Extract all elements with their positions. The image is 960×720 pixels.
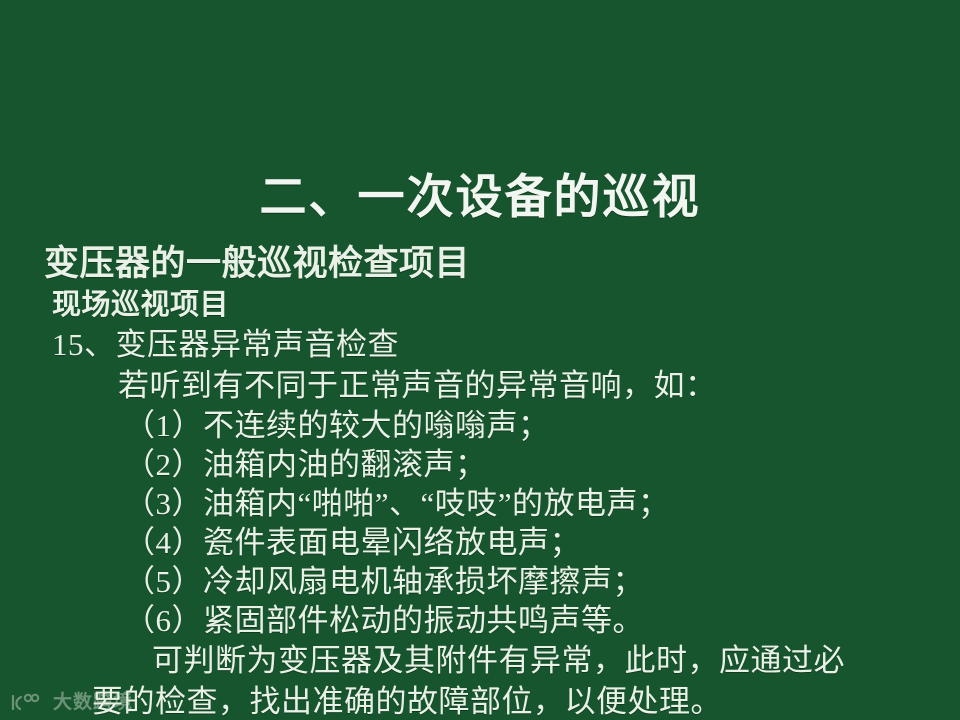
list-item: （6）紧固部件松动的振动共鸣声等。 <box>0 601 960 640</box>
intro-text: 若听到有不同于正常声音的异常音响，如： <box>0 366 960 406</box>
conclusion-line-second: 要的检查，找出准确的故障部位，以便处理。 <box>0 681 960 720</box>
page-title: 二、一次设备的巡视 <box>0 158 960 227</box>
subheading-secondary: 现场巡视项目 <box>0 286 960 324</box>
list-item: （1）不连续的较大的嗡嗡声； <box>0 406 960 445</box>
slide-canvas: 二、一次设备的巡视 变压器的一般巡视检查项目 现场巡视项目 15、变压器异常声音… <box>0 0 960 720</box>
list-item: （3）油箱内“啪啪”、“吱吱”的放电声； <box>0 484 960 523</box>
conclusion-line-first: 可判断为变压器及其附件有异常，此时，应通过必 <box>0 640 960 681</box>
subheading-primary: 变压器的一般巡视检查项目 <box>0 242 960 286</box>
list-item: （5）冷却风扇电机轴承损坏摩擦声； <box>0 562 960 601</box>
slide-body: 变压器的一般巡视检查项目 现场巡视项目 15、变压器异常声音检查 若听到有不同于… <box>0 242 960 720</box>
item-heading: 15、变压器异常声音检查 <box>0 324 960 366</box>
list-item: （2）油箱内油的翻滚声； <box>0 445 960 484</box>
list-item: （4）瓷件表面电晕闪络放电声； <box>0 523 960 562</box>
